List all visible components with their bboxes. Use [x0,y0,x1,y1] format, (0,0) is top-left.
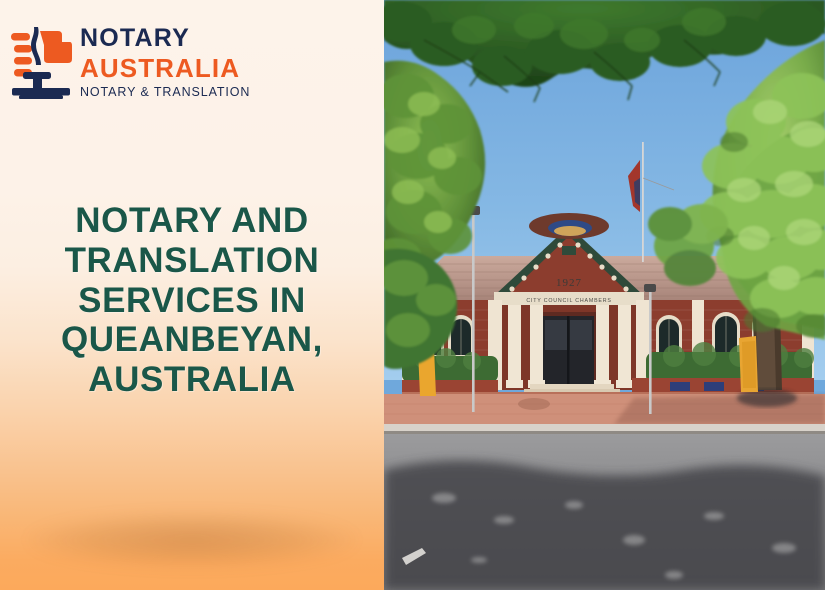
background-shadow-ellipse [27,512,357,568]
brand-name-primary: NOTARY [80,26,250,51]
building-sign-text: CITY COUNCIL CHAMBERS [526,298,611,304]
brand-logo-text: NOTARY AUSTRALIA NOTARY & TRANSLATION [80,26,250,99]
page-title: NOTARY AND TRANSLATION SERVICES IN QUEAN… [0,201,384,399]
hero-text-panel: NOTARY AUSTRALIA NOTARY & TRANSLATION NO… [0,0,384,590]
brand-logo[interactable]: NOTARY AUSTRALIA NOTARY & TRANSLATION [10,16,260,108]
brand-name-secondary: AUSTRALIA [80,55,250,81]
promo-banner: NOTARY AUSTRALIA NOTARY & TRANSLATION NO… [0,0,825,590]
building-year-text: 1927 [556,277,582,289]
brand-tagline: NOTARY & TRANSLATION [80,86,250,99]
queanbeyan-city-council-chambers-photo: 1927 CITY COUNCIL CHAMBERS [384,0,825,590]
notary-stamp-icon [10,23,72,101]
